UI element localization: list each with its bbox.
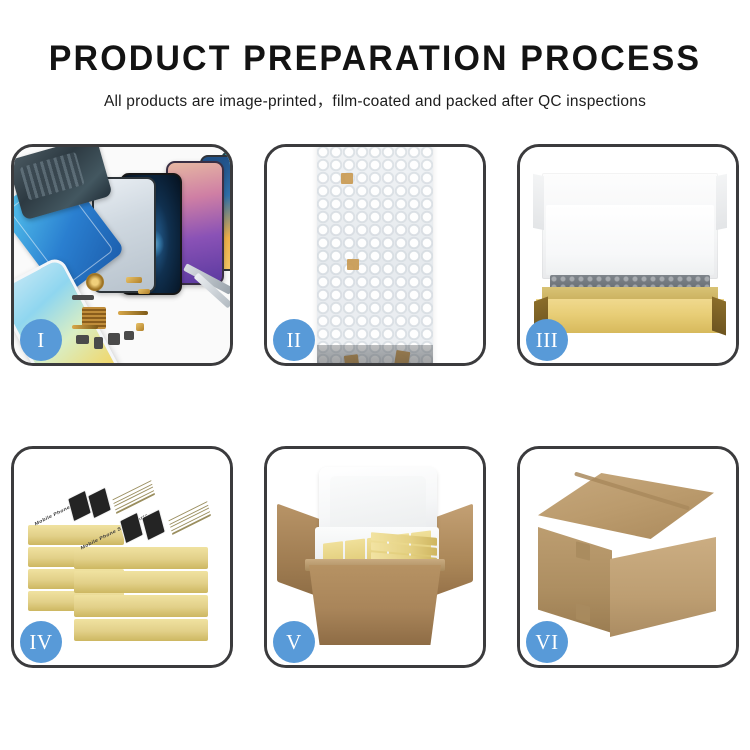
step-panel-1: I <box>11 144 233 366</box>
tape-piece-top <box>341 173 353 184</box>
step-panel-2: II <box>264 144 486 366</box>
part-camera <box>94 337 103 349</box>
part-coil <box>86 273 104 291</box>
step-panel-5: V <box>264 446 486 668</box>
step-panel-4: Mobile Phone Spare Parts <box>11 446 233 668</box>
part-module <box>76 335 89 344</box>
part-gold-tab <box>138 289 150 294</box>
part-gold-clip <box>126 277 142 283</box>
step-badge-1: I <box>20 319 62 361</box>
part-flex-cable-2 <box>72 325 98 329</box>
process-steps-grid: I II III <box>11 144 741 668</box>
carton-right-face <box>610 537 716 637</box>
carton-tape-upper <box>576 541 590 560</box>
product-preparation-infographic: PRODUCT PREPARATION PROCESS All products… <box>0 0 750 750</box>
header: PRODUCT PREPARATION PROCESS All products… <box>0 0 750 111</box>
carton-tape-lower <box>576 603 590 622</box>
part-flex-cable <box>118 311 148 315</box>
step-badge-3: III <box>526 319 568 361</box>
step-badge-6: VI <box>526 621 568 663</box>
tape-piece-middle <box>347 259 359 270</box>
step-badge-5: V <box>273 621 315 663</box>
step-badge-4: IV <box>20 621 62 663</box>
step-panel-3: III <box>517 144 739 366</box>
box-slab <box>74 619 208 641</box>
white-foam-sheet <box>546 205 714 275</box>
carton-left-face <box>538 527 612 633</box>
box-top-front: Mobile Phone Spare Parts <box>74 501 208 549</box>
box-slab <box>74 595 208 617</box>
page-title: PRODUCT PREPARATION PROCESS <box>11 40 739 79</box>
part-bar <box>72 295 94 300</box>
part-connector <box>124 331 134 340</box>
part-screw-plate <box>136 323 144 331</box>
step-badge-2: II <box>273 319 315 361</box>
box-slab <box>74 571 208 593</box>
bubble-wrap-sleeve <box>317 147 433 363</box>
page-subtitle: All products are image-printed，film-coat… <box>0 89 750 111</box>
carton-body <box>309 565 441 645</box>
bubble-wrap-shadow <box>317 345 433 363</box>
spare-parts-cluster <box>72 271 182 363</box>
part-speaker <box>108 333 120 345</box>
step-panel-6: VI <box>517 446 739 668</box>
